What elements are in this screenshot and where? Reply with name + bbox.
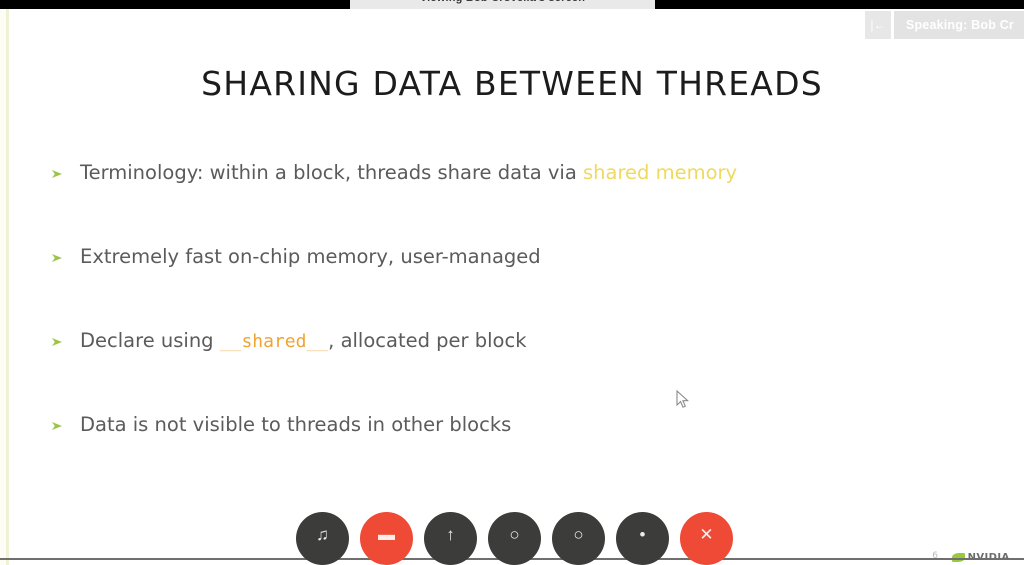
bullet-text: Extremely fast on-chip memory, user-mana…: [80, 245, 541, 268]
screen-share-window: Viewing Bob Crovella's screen |← Speakin…: [0, 0, 1024, 565]
mouse-cursor-icon: [676, 390, 689, 409]
chat-button[interactable]: ○: [552, 512, 605, 565]
meeting-control-bar: ♫ ▬ ↑ ○ ○ • ✕: [296, 512, 733, 565]
code-token-shared: __shared__: [220, 331, 328, 352]
camera-off-button[interactable]: ▬: [360, 512, 413, 565]
viewing-screen-tab[interactable]: Viewing Bob Crovella's screen: [350, 0, 655, 9]
share-screen-button[interactable]: ↑: [424, 512, 477, 565]
camera-off-icon: ▬: [378, 526, 395, 543]
list-item: Data is not visible to threads in other …: [52, 413, 952, 497]
bullet-text: Declare using __shared__, allocated per …: [80, 329, 527, 353]
more-options-icon: •: [640, 526, 646, 543]
code-underscore-lead: __: [220, 331, 242, 352]
bullet-text-prefix: Declare using: [80, 329, 220, 352]
bullet-arrow-icon: [52, 422, 62, 430]
share-screen-icon: ↑: [446, 526, 455, 543]
leave-meeting-button[interactable]: ✕: [680, 512, 733, 565]
participants-button[interactable]: ○: [488, 512, 541, 565]
list-item: Terminology: within a block, threads sha…: [52, 161, 952, 245]
speaking-indicator-group: |← Speaking: Bob Cr: [865, 11, 1024, 39]
bullet-text-suffix: , allocated per block: [328, 329, 526, 352]
code-keyword: shared: [241, 331, 306, 352]
microphone-button[interactable]: ♫: [296, 512, 349, 565]
list-item: Extremely fast on-chip memory, user-mana…: [52, 245, 952, 329]
collapse-left-icon[interactable]: |←: [865, 11, 891, 39]
speaking-status-badge: Speaking: Bob Cr: [894, 11, 1024, 39]
leave-meeting-icon: ✕: [699, 526, 713, 543]
chat-icon: ○: [573, 526, 583, 543]
page-title: SHARING DATA BETWEEN THREADS: [0, 64, 1024, 103]
list-item: Declare using __shared__, allocated per …: [52, 329, 952, 413]
bullet-list: Terminology: within a block, threads sha…: [52, 161, 952, 497]
participants-icon: ○: [509, 526, 519, 543]
bullet-arrow-icon: [52, 254, 62, 262]
bullet-text: Data is not visible to threads in other …: [80, 413, 511, 436]
more-options-button[interactable]: •: [616, 512, 669, 565]
code-underscore-trail: __: [306, 331, 328, 352]
bullet-text-prefix: Terminology: within a block, threads sha…: [80, 161, 583, 184]
bullet-text: Terminology: within a block, threads sha…: [80, 161, 737, 184]
microphone-icon: ♫: [316, 526, 329, 543]
highlight-shared-memory: shared memory: [583, 161, 737, 184]
viewing-screen-label: Viewing Bob Crovella's screen: [350, 0, 655, 4]
shared-slide: SHARING DATA BETWEEN THREADS Terminology…: [0, 9, 1024, 565]
bullet-arrow-icon: [52, 170, 62, 178]
bullet-arrow-icon: [52, 338, 62, 346]
